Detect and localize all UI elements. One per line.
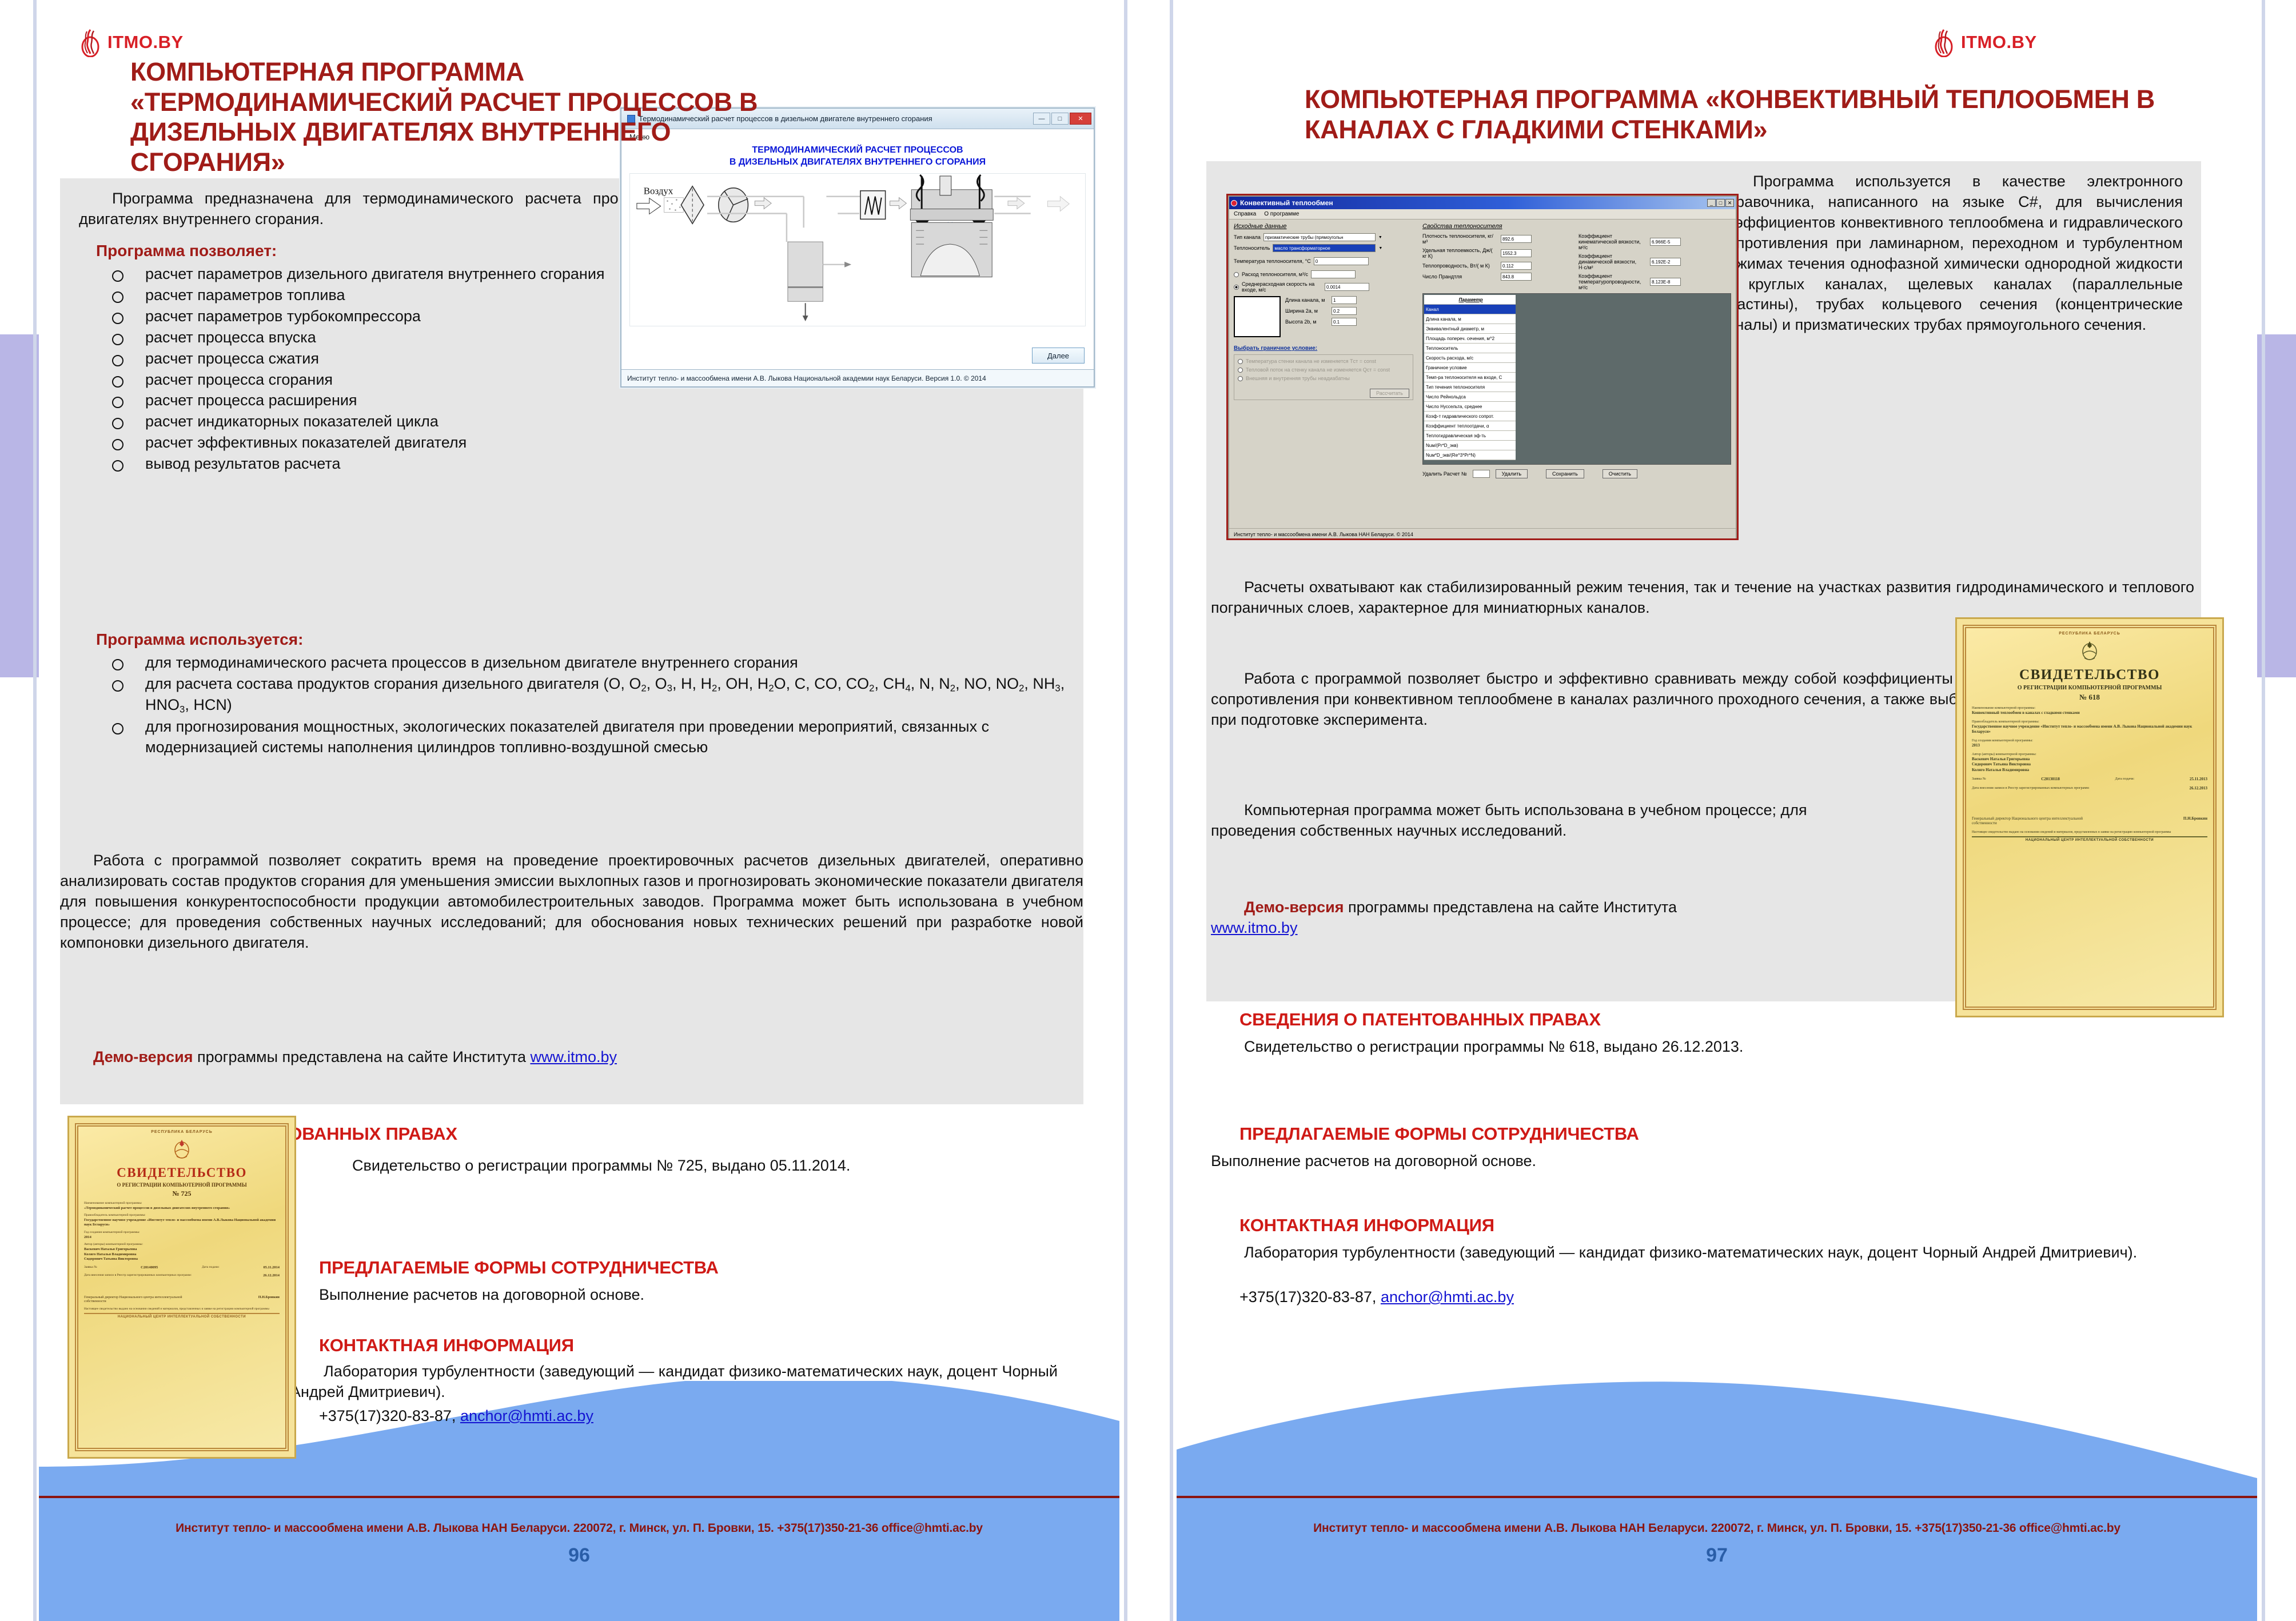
- list-item[interactable]: Теплоноситель: [1424, 344, 1516, 353]
- prop-label: Число Прандтля: [1422, 274, 1498, 280]
- prop-label: Коэффициент температуропроводности, м²/с: [1579, 273, 1647, 290]
- contact-email[interactable]: anchor@hmti.ac.by: [460, 1407, 593, 1424]
- action-buttons-row: Удалить Расчет № Удалить Сохранить Очист…: [1422, 469, 1731, 478]
- list-item: для расчета состава продуктов сгорания д…: [96, 674, 1102, 716]
- prop-value[interactable]: 0.112: [1501, 262, 1532, 270]
- demo-label: Демо-версия: [93, 1048, 193, 1065]
- demo-label: Демо-версия: [1244, 899, 1344, 916]
- certificate-footer: НАЦИОНАЛЬНЫЙ ЦЕНТР ИНТЕЛЛЕКТУАЛЬНОЙ СОБС…: [1972, 836, 2207, 842]
- certificate-title: СВИДЕТЕЛЬСТВО: [1972, 667, 2207, 683]
- channel-cross-section-icon: [1234, 296, 1281, 337]
- contact-heading: КОНТАКТНАЯ ИНФОРМАЦИЯ: [1239, 1215, 1494, 1236]
- certificate-year-value: 2013: [1972, 743, 2207, 748]
- page-title-left: КОМПЬЮТЕРНАЯ ПРОГРАММА «ТЕРМОДИНАМИЧЕСКИ…: [130, 57, 811, 178]
- page-number: 96: [39, 1544, 1119, 1567]
- app-icon: [1231, 200, 1237, 206]
- window-controls: — □ ✕: [1033, 113, 1091, 125]
- next-button[interactable]: Далее: [1032, 348, 1085, 364]
- coop-heading: ПРЕДЛАГАЕМЫЕ ФОРМЫ СОТРУДНИЧЕСТВА: [319, 1257, 719, 1278]
- delete-label: Удалить Расчет №: [1422, 471, 1467, 477]
- certificate-image-right: РЕСПУБЛИКА БЕЛАРУСЬ СВИДЕТЕЛЬСТВО О РЕГИ…: [1955, 617, 2224, 1017]
- certificate-holder-value: Государственное научное учреждение «Инст…: [1972, 724, 2207, 735]
- paragraph-2: Расчеты охватывают как стабилизированный…: [1211, 577, 2194, 618]
- page-edge-line: [1170, 0, 1173, 1621]
- certificate-reg-value: 26.12.2014: [263, 1273, 280, 1279]
- list-item[interactable]: Площадь попереч. сечения, м^2: [1424, 334, 1516, 344]
- patent-heading: СВЕДЕНИЯ О ПАТЕНТОВАННЫХ ПРАВАХ: [1239, 1009, 1601, 1030]
- bc-option: Температура стенки канала не изменяется …: [1246, 358, 1376, 364]
- width-input[interactable]: 0.2: [1332, 307, 1357, 315]
- field-label: Тип канала: [1234, 234, 1261, 240]
- certificate-holder-value: Государственное научное учреждение «Инст…: [84, 1218, 280, 1228]
- demo-link[interactable]: www.itmo.by: [530, 1048, 617, 1065]
- list-item[interactable]: Nuм*D_экв/(Re^3*Pr*N): [1424, 450, 1516, 460]
- menu-bar: Справка О программе: [1229, 209, 1736, 219]
- page-left: Институт тепло- и массообмена имени А.В.…: [39, 0, 1119, 1621]
- list-item: для прогнозирования мощностных, экологич…: [96, 717, 1102, 758]
- page-edge-line: [33, 0, 37, 1621]
- minimize-button[interactable]: _: [1707, 199, 1716, 207]
- engine-schematic-icon: Воздух: [630, 174, 1085, 326]
- contact-line: +375(17)320-83-87, anchor@hmti.ac.by: [1239, 1287, 1971, 1308]
- list-item[interactable]: Теплогидравлическая эф-ть: [1424, 431, 1516, 441]
- delete-number-input[interactable]: [1473, 470, 1490, 478]
- list-item[interactable]: Число Нуссельта, среднее: [1424, 402, 1516, 412]
- prop-label: Коэффициент кинематической вязкости, м²/…: [1579, 233, 1647, 250]
- certificate-reg-label: Дата внесения записи в Реестр зарегистри…: [1972, 786, 2118, 791]
- list-item: вывод результатов расчета: [96, 454, 788, 474]
- contact-phone: +375(17)320-83-87,: [1239, 1288, 1381, 1305]
- list-item[interactable]: Темп-ра теплоносителя на входе, С: [1424, 373, 1516, 382]
- coat-of-arms-icon: [2080, 639, 2099, 661]
- list-item: расчет эффективных показателей двигателя: [96, 433, 788, 453]
- speed-input[interactable]: 0.0014: [1325, 283, 1369, 291]
- certificate-signer-label: Генеральный директор Национального центр…: [1972, 816, 2108, 825]
- brand-name: ITMO.BY: [1961, 32, 2037, 53]
- radio-bc-2[interactable]: [1238, 368, 1243, 373]
- contact-text: Лаборатория турбулентности (заведующий —…: [290, 1362, 1091, 1403]
- window-titlebar: Конвективный теплообмен _ □ ✕: [1229, 197, 1736, 209]
- certificate-holder-label: Правообладатель компьютерной программы:: [1972, 720, 2207, 724]
- prop-value[interactable]: 6.966E-5: [1650, 238, 1681, 246]
- allows-heading: Программа позволяет:: [96, 240, 277, 261]
- results-listbox[interactable]: Параметр Канал Длина канала, м Эквивален…: [1422, 293, 1731, 465]
- certificate-author: Васкевич Наталья Григорьевна: [84, 1247, 280, 1252]
- certificate-authors-label: Автор (авторы) компьютерной программы:: [1972, 752, 2207, 757]
- demo-link[interactable]: www.itmo.by: [1211, 919, 1298, 936]
- certificate-date-value: 25.11.2013: [2190, 777, 2207, 782]
- demo-line: Демо-версия программы представлена на са…: [1211, 897, 2000, 939]
- geometry-label: Высота 2b, м: [1285, 319, 1329, 325]
- flame-logo-icon: [1932, 27, 1955, 57]
- list-item: расчет процесса расширения: [96, 390, 788, 411]
- prop-value[interactable]: 843.8: [1501, 273, 1532, 281]
- status-bar: Институт тепло- и массообмена имени А.В.…: [1229, 528, 1736, 540]
- certificate-author: Васкевич Наталья Григорьевна: [1972, 757, 2207, 762]
- radio-bc-3[interactable]: [1238, 376, 1243, 381]
- brand-logo-left: ITMO.BY: [79, 27, 184, 57]
- contact-phone: +375(17)320-83-87,: [319, 1407, 460, 1424]
- contact-text: Лаборатория турбулентности (заведующий —…: [1211, 1243, 2217, 1263]
- coop-text: Выполнение расчетов на договорной основе…: [1211, 1151, 1943, 1172]
- list-item[interactable]: Nuм/(Pr*D_экв): [1424, 441, 1516, 450]
- status-bar: Институт тепло- и массообмена имени А.В.…: [621, 369, 1094, 386]
- list-header: Параметр: [1424, 295, 1516, 305]
- coolant-select[interactable]: масло трансформаторное: [1273, 244, 1376, 252]
- prop-value[interactable]: 8.123E-8: [1650, 278, 1681, 286]
- brand-name: ITMO.BY: [107, 32, 184, 53]
- radio-flowrate[interactable]: [1234, 272, 1239, 277]
- certificate-image-left: РЕСПУБЛИКА БЕЛАРУСЬ СВИДЕТЕЛЬСТВО О РЕГИ…: [67, 1116, 296, 1459]
- list-item[interactable]: Коэффициент теплоотдачи, α: [1424, 421, 1516, 431]
- maximize-button[interactable]: □: [1051, 113, 1069, 125]
- certificate-holder-label: Правообладатель компьютерной программы:: [84, 1213, 280, 1218]
- certificate-footer: НАЦИОНАЛЬНЫЙ ЦЕНТР ИНТЕЛЛЕКТУАЛЬНОЙ СОБС…: [84, 1313, 280, 1319]
- calculate-button[interactable]: Рассчитать: [1370, 389, 1409, 398]
- certificate-app-label: Заявка №: [84, 1265, 97, 1271]
- contact-email[interactable]: anchor@hmti.ac.by: [1381, 1288, 1514, 1305]
- group-input-label: Исходные данные: [1234, 223, 1413, 230]
- clear-button[interactable]: Очистить: [1603, 469, 1637, 478]
- flowrate-input[interactable]: [1311, 270, 1356, 278]
- certificate-authors-label: Автор (авторы) компьютерной программы:: [84, 1243, 280, 1247]
- delete-button[interactable]: Удалить: [1496, 469, 1528, 478]
- flame-logo-icon: [79, 27, 102, 57]
- maximize-button[interactable]: □: [1716, 199, 1725, 207]
- page-number: 97: [1177, 1544, 2257, 1567]
- list-item[interactable]: Скорость расхода, м/с: [1424, 353, 1516, 363]
- certificate-name-value: «Термодинамический расчет процессов в ди…: [84, 1206, 280, 1211]
- page-edge-line: [1124, 0, 1127, 1621]
- group-props-label: Свойства теплоносителя: [1422, 223, 1731, 230]
- used-heading: Программа используется:: [96, 629, 303, 650]
- minimize-button[interactable]: —: [1033, 113, 1050, 125]
- radio-label: Среднерасходная скорость на входе, м/с: [1242, 281, 1322, 293]
- brand-logo-right: ITMO.BY: [1932, 27, 2037, 57]
- certificate-signer-name: П.Н.Бровкин: [2183, 816, 2207, 825]
- list-item: расчет индикаторных показателей цикла: [96, 412, 788, 432]
- list-item[interactable]: Эквивалентный диаметр, м: [1424, 324, 1516, 334]
- demo-text: программы представлена на сайте Институт…: [1344, 899, 1677, 916]
- contact-heading: КОНТАКТНАЯ ИНФОРМАЦИЯ: [319, 1335, 574, 1356]
- certificate-app-value: С20140095: [141, 1265, 158, 1271]
- footer-institute-text: Институт тепло- и массообмена имени А.В.…: [1177, 1522, 2257, 1535]
- patent-text: Свидетельство о регистрации программы № …: [319, 1156, 1068, 1176]
- certificate-country: РЕСПУБЛИКА БЕЛАРУСЬ: [84, 1130, 280, 1134]
- certificate-reg-value: 26.12.2013: [2190, 786, 2208, 791]
- coat-of-arms-icon: [172, 1137, 192, 1159]
- menu-item-about[interactable]: О программе: [1264, 211, 1299, 217]
- list-item[interactable]: Канал: [1424, 305, 1516, 314]
- radio-speed[interactable]: [1234, 285, 1239, 290]
- temperature-input[interactable]: 0: [1314, 257, 1369, 265]
- coop-text: Выполнение расчетов на договорной основе…: [319, 1285, 1068, 1305]
- demo-text: программы представлена на сайте Институт…: [193, 1048, 530, 1065]
- length-input[interactable]: 1: [1332, 296, 1357, 304]
- certificate-name-label: Наименование компьютерной программы:: [1972, 706, 2207, 710]
- certificate-author: Сидорович Татьяна Викторовна: [1972, 762, 2207, 767]
- page-right: Институт тепло- и массообмена имени А.В.…: [1177, 0, 2257, 1621]
- certificate-title: СВИДЕТЕЛЬСТВО: [84, 1165, 280, 1180]
- certificate-app-value: С20130118: [2041, 777, 2060, 782]
- patent-text: Свидетельство о регистрации программы № …: [1211, 1037, 1943, 1057]
- prop-label: Удельная теплоемкость, Дж/( кг К): [1422, 247, 1498, 259]
- certificate-number: № 618: [1972, 693, 2207, 702]
- contact-line: +375(17)320-83-87, anchor@hmti.ac.by: [319, 1406, 1068, 1427]
- save-button[interactable]: Сохранить: [1546, 469, 1584, 478]
- paragraph-4: Компьютерная программа может быть исполь…: [1211, 800, 1886, 841]
- certificate-name-label: Наименование компьютерной программы:: [84, 1201, 280, 1206]
- certificate-country: РЕСПУБЛИКА БЕЛАРУСЬ: [1972, 632, 2207, 636]
- footer-institute-text: Институт тепло- и массообмена имени А.В.…: [39, 1522, 1119, 1535]
- diagram-label: Воздух: [644, 185, 673, 196]
- prop-label: Теплопроводность, Вт/( м К): [1422, 263, 1498, 269]
- channel-type-select[interactable]: призматические трубы (прямоугольн: [1263, 233, 1376, 241]
- radio-label: Расход теплоносителя, м³/с: [1242, 272, 1308, 277]
- certificate-note: Настоящее свидетельство выдано на основа…: [84, 1307, 280, 1311]
- prop-label: Коэффициент динамической вязкости, Н·с/м…: [1579, 253, 1647, 270]
- chevron-down-icon[interactable]: ▼: [1378, 246, 1382, 250]
- close-button[interactable]: ✕: [1070, 113, 1091, 125]
- certificate-date-label: Дата подачи:: [202, 1265, 220, 1271]
- certificate-subtitle: О РЕГИСТРАЦИИ КОМПЬЮТЕРНОЙ ПРОГРАММЫ: [1972, 685, 2207, 691]
- prop-value[interactable]: 1552.3: [1501, 249, 1532, 257]
- bc-heading: Выбрать граничное условие:: [1234, 345, 1413, 352]
- list-item[interactable]: Коэф-т гидравлического сопрот.: [1424, 412, 1516, 421]
- certificate-date-label: Дата подачи:: [2115, 777, 2135, 782]
- chevron-down-icon[interactable]: ▼: [1378, 235, 1382, 239]
- used-list: для термодинамического расчета процессов…: [96, 653, 1102, 758]
- parameter-list[interactable]: Параметр Канал Длина канала, м Эквивален…: [1424, 295, 1516, 463]
- bc-option: Внешняя и внутренняя трубы неадиабатны: [1246, 376, 1350, 381]
- conclusion-paragraph: Работа с программой позволяет сократить …: [60, 851, 1083, 953]
- certificate-year-label: Год создания компьютерной программы:: [84, 1231, 280, 1235]
- demo-line: Демо-версия программы представлена на са…: [60, 1047, 1083, 1068]
- list-item[interactable]: Число Рейнольдса: [1424, 392, 1516, 402]
- certificate-note: Настоящее свидетельство выдано на основа…: [1972, 831, 2207, 834]
- height-input[interactable]: 0.1: [1332, 318, 1357, 326]
- list-item: для термодинамического расчета процессов…: [96, 653, 1102, 673]
- bc-option: Тепловой поток на стенку канала не измен…: [1246, 367, 1390, 373]
- certificate-author: Сидорович Татьяна Викторовна: [84, 1257, 280, 1262]
- geometry-label: Ширина 2a, м: [1285, 308, 1329, 314]
- certificate-number: № 725: [84, 1189, 280, 1198]
- list-item[interactable]: Длина канала, м: [1424, 314, 1516, 324]
- field-label: Температура теплоносителя, °С: [1234, 258, 1311, 264]
- geometry-label: Длина канала, м: [1285, 297, 1329, 303]
- certificate-signer-label: Генеральный директор Национального центр…: [84, 1295, 197, 1303]
- input-panel: Исходные данные Тип канала призматически…: [1229, 219, 1418, 528]
- field-label: Теплоноситель: [1234, 245, 1270, 251]
- certificate-name-value: Конвективный теплообмен в каналах с глад…: [1972, 710, 2207, 716]
- list-item[interactable]: Тип течения теплоносителя: [1424, 382, 1516, 392]
- certificate-date-value: 05.11.2014: [264, 1265, 280, 1271]
- prop-label: Плотность теплоносителя, кг/м³: [1422, 233, 1498, 245]
- footer-rule: [1177, 1496, 2257, 1498]
- prop-value[interactable]: 6.192E-2: [1650, 258, 1681, 266]
- certificate-author: Коляго Наталья Владимировна: [1972, 768, 2207, 773]
- list-item[interactable]: Граничное условие: [1424, 363, 1516, 373]
- certificate-app-label: Заявка №: [1972, 777, 1986, 782]
- radio-bc-1[interactable]: [1238, 359, 1243, 364]
- wave-decoration-right: [1177, 1381, 2257, 1621]
- window-title: Конвективный теплообмен: [1240, 199, 1707, 207]
- certificate-subtitle: О РЕГИСТРАЦИИ КОМПЬЮТЕРНОЙ ПРОГРАММЫ: [84, 1182, 280, 1188]
- page-title-right: КОМПЬЮТЕРНАЯ ПРОГРАММА «КОНВЕКТИВНЫЙ ТЕП…: [1305, 85, 2197, 145]
- prop-value[interactable]: 892.6: [1501, 235, 1532, 243]
- page-edge-line: [2262, 0, 2265, 1621]
- footer-rule: [39, 1496, 1119, 1498]
- window-controls: _ □ ✕: [1707, 199, 1734, 207]
- menu-item-help[interactable]: Справка: [1234, 211, 1256, 217]
- intro-paragraph: Программа используется в качестве электр…: [1720, 171, 2183, 336]
- certificate-reg-label: Дата внесения записи в Реестр зарегистри…: [84, 1273, 205, 1279]
- properties-panel: Свойства теплоносителя Плотность теплоно…: [1418, 219, 1736, 528]
- screenshot-convective-program: Конвективный теплообмен _ □ ✕ Справка О …: [1228, 195, 1737, 538]
- coop-heading: ПРЕДЛАГАЕМЫЕ ФОРМЫ СОТРУДНИЧЕСТВА: [1239, 1124, 1639, 1144]
- certificate-author: Коляго Наталья Владимировна: [84, 1252, 280, 1257]
- engine-diagram-canvas: Воздух: [629, 173, 1086, 326]
- certificate-year-label: Год создания компьютерной программы:: [1972, 738, 2207, 743]
- close-button[interactable]: ✕: [1725, 199, 1734, 207]
- certificate-year-value: 2014: [84, 1235, 280, 1240]
- certificate-signer-name: П.Н.Бровкин: [258, 1295, 280, 1303]
